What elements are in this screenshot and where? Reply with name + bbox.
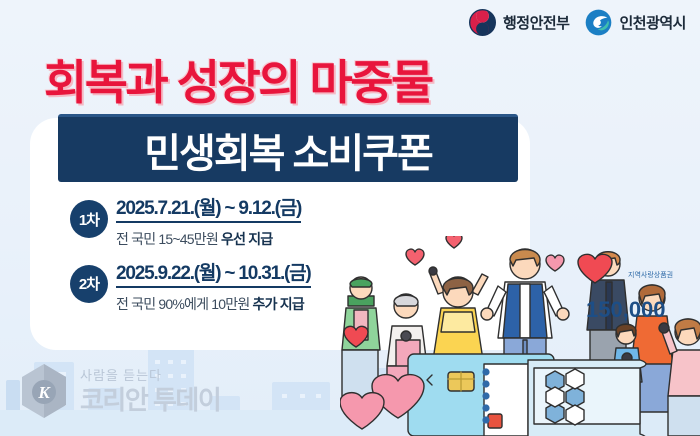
schedule-row-body: 2025.9.22.(월) ~ 10.31.(금) 전 국민 90%에게 10만… (116, 263, 400, 314)
incheon-swirl-icon (585, 9, 612, 36)
press-tagline: 사람을 듣는다 (80, 369, 220, 382)
press-logo: K 사람을 듣는다 코리안 투데이 (18, 362, 220, 420)
logo-label-mois: 행정안전부 (503, 12, 570, 33)
press-wordmark: 사람을 듣는다 코리안 투데이 (80, 369, 220, 413)
subtitle-band: 민생회복 소비쿠폰 (58, 114, 518, 182)
schedule-desc-prefix: 전 국민 15~45만원 (116, 231, 221, 247)
headline-text: 회복과 성장의 마중물 (44, 44, 432, 113)
logo-mois: 행정안전부 (469, 9, 570, 36)
schedule-desc-emphasis: 우선 지급 (221, 231, 272, 247)
taegeuk-icon (469, 9, 496, 36)
logo-incheon: 인천광역시 (585, 9, 686, 36)
heart-icon (578, 254, 612, 283)
subtitle-text: 민생회복 소비쿠폰 (144, 121, 432, 179)
schedule-row: 1차 2025.7.21.(월) ~ 9.12.(금) 전 국민 15~45만원… (70, 198, 400, 249)
schedule-description: 전 국민 90%에게 10만원 추가 지급 (116, 294, 400, 314)
heart-icon (340, 393, 384, 429)
round-badge: 2차 (70, 265, 108, 303)
heart-icon (546, 255, 564, 271)
press-name: 코리안 투데이 (80, 387, 220, 413)
schedule-date: 2025.7.21.(월) ~ 9.12.(금) (116, 198, 301, 223)
heart-icon (406, 249, 424, 265)
voucher-amount: 150,000 (586, 297, 666, 322)
schedule-row: 2차 2025.9.22.(월) ~ 10.31.(금) 전 국민 90%에게 … (70, 263, 400, 314)
schedule-list: 1차 2025.7.21.(월) ~ 9.12.(금) 전 국민 15~45만원… (70, 198, 400, 328)
schedule-desc-emphasis: 추가 지급 (253, 296, 304, 312)
promo-banner: 행정안전부 인천광역시 회복과 성장의 마중물 민생회복 소비쿠폰 1차 202… (0, 0, 700, 436)
schedule-date: 2025.9.22.(월) ~ 10.31.(금) (116, 263, 311, 288)
logo-label-incheon: 인천광역시 (619, 12, 686, 33)
schedule-row-body: 2025.7.21.(월) ~ 9.12.(금) 전 국민 15~45만원 우선… (116, 198, 400, 249)
agency-logos: 행정안전부 인천광역시 (469, 9, 686, 36)
press-mark-letter: K (37, 383, 51, 402)
korean-today-hex-icon: K (18, 362, 70, 420)
round-badge: 1차 (70, 200, 108, 238)
voucher-label: 지역사랑상품권 (628, 270, 673, 279)
schedule-description: 전 국민 15~45만원 우선 지급 (116, 229, 400, 249)
schedule-desc-prefix: 전 국민 90%에게 10만원 (116, 296, 253, 312)
heart-icon (446, 236, 462, 248)
gift-certificate (483, 360, 646, 436)
